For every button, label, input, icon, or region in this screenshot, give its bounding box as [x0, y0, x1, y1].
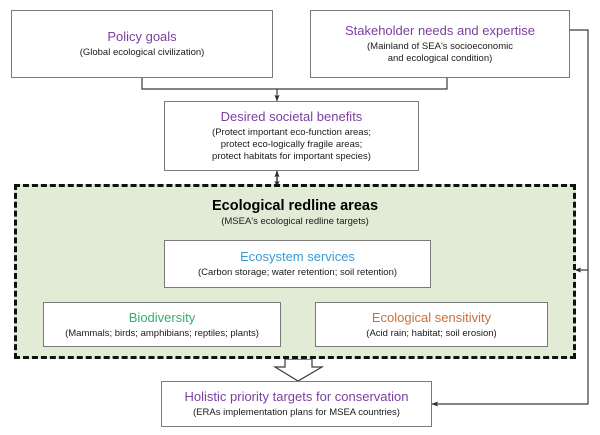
- node-stakeholder-needs-title: Stakeholder needs and expertise: [345, 23, 535, 39]
- subtitle-line: (ERAs implementation plans for MSEA coun…: [193, 407, 400, 419]
- connector-stakeholder-needs-to-desired-benefits: [277, 78, 447, 101]
- subtitle-line: (Mainland of SEA's socioeconomic: [367, 41, 513, 53]
- node-desired-benefits[interactable]: Desired societal benefits (Protect impor…: [164, 101, 419, 171]
- subtitle-line: (Global ecological civilization): [80, 47, 205, 59]
- region-subtitle: (MSEA's ecological redline targets): [17, 216, 573, 228]
- node-desired-benefits-title: Desired societal benefits: [221, 109, 363, 125]
- node-stakeholder-needs[interactable]: Stakeholder needs and expertise (Mainlan…: [310, 10, 570, 78]
- node-policy-goals-title: Policy goals: [107, 29, 176, 45]
- subtitle-line: (Mammals; birds; amphibians; reptiles; p…: [65, 328, 259, 340]
- node-holistic-targets-subtitle: (ERAs implementation plans for MSEA coun…: [193, 407, 400, 419]
- flow-diagram: Policy goals (Global ecological civiliza…: [0, 0, 600, 435]
- node-ecological-sensitivity-title: Ecological sensitivity: [372, 310, 491, 326]
- region-header: Ecological redline areas (MSEA's ecologi…: [17, 197, 573, 228]
- node-ecosystem-services-title: Ecosystem services: [240, 249, 355, 265]
- subtitle-line: (Carbon storage; water retention; soil r…: [198, 267, 397, 279]
- subtitle-line: and ecological condition): [367, 53, 513, 65]
- node-ecosystem-services[interactable]: Ecosystem services (Carbon storage; wate…: [164, 240, 431, 288]
- node-ecological-sensitivity[interactable]: Ecological sensitivity (Acid rain; habit…: [315, 302, 548, 347]
- subtitle-line: (Acid rain; habitat; soil erosion): [366, 328, 496, 340]
- node-policy-goals-subtitle: (Global ecological civilization): [80, 47, 205, 59]
- node-holistic-targets-title: Holistic priority targets for conservati…: [185, 389, 409, 405]
- node-ecological-sensitivity-subtitle: (Acid rain; habitat; soil erosion): [366, 328, 496, 340]
- subtitle-line: (Protect important eco-function areas;: [212, 127, 371, 139]
- subtitle-line: protect habitats for important species): [212, 151, 371, 163]
- region-title: Ecological redline areas: [17, 197, 573, 215]
- node-ecosystem-services-subtitle: (Carbon storage; water retention; soil r…: [198, 267, 397, 279]
- node-biodiversity[interactable]: Biodiversity (Mammals; birds; amphibians…: [43, 302, 281, 347]
- node-stakeholder-needs-subtitle: (Mainland of SEA's socioeconomic and eco…: [367, 41, 513, 65]
- connector-policy-goals-to-desired-benefits: [142, 78, 277, 89]
- node-desired-benefits-subtitle: (Protect important eco-function areas; p…: [212, 127, 371, 163]
- subtitle-line: protect eco-logically fragile areas;: [212, 139, 371, 151]
- node-biodiversity-subtitle: (Mammals; birds; amphibians; reptiles; p…: [65, 328, 259, 340]
- node-holistic-targets[interactable]: Holistic priority targets for conservati…: [161, 381, 432, 427]
- node-biodiversity-title: Biodiversity: [129, 310, 195, 326]
- connector-era-region-to-holistic-targets: [275, 359, 322, 381]
- node-policy-goals[interactable]: Policy goals (Global ecological civiliza…: [11, 10, 273, 78]
